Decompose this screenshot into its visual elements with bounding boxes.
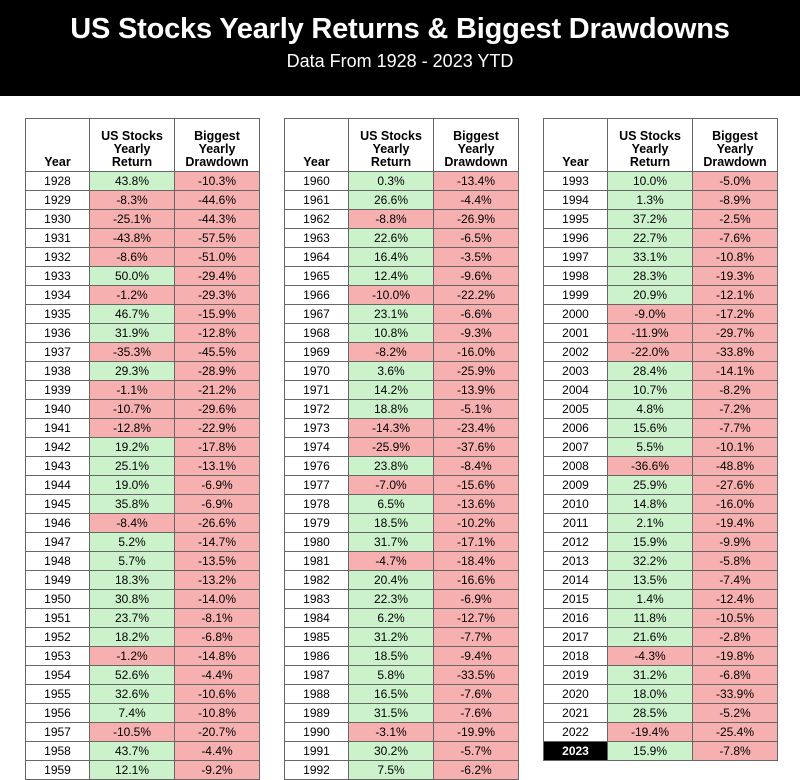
table-row: 195123.7%-8.1% [26, 609, 260, 628]
cell-year: 1998 [544, 267, 608, 286]
table-row: 19567.4%-10.8% [26, 704, 260, 723]
cell-biggest-drawdown: -15.6% [434, 476, 519, 495]
cell-biggest-drawdown: -7.6% [434, 704, 519, 723]
cell-year: 1981 [285, 552, 349, 571]
cell-biggest-drawdown: -19.8% [693, 647, 778, 666]
cell-yearly-return: 18.2% [90, 628, 175, 647]
cell-year: 1987 [285, 666, 349, 685]
cell-yearly-return: -8.4% [90, 514, 175, 533]
cell-biggest-drawdown: -2.5% [693, 210, 778, 229]
cell-yearly-return: 19.0% [90, 476, 175, 495]
cell-year: 2010 [544, 495, 608, 514]
table-row: 2001-11.9%-29.7% [544, 324, 778, 343]
cell-biggest-drawdown: -48.8% [693, 457, 778, 476]
cell-year: 1960 [285, 172, 349, 191]
table-row: 199310.0%-5.0% [544, 172, 778, 191]
cell-year: 1946 [26, 514, 90, 533]
cell-yearly-return: 5.5% [608, 438, 693, 457]
cell-biggest-drawdown: -6.5% [434, 229, 519, 248]
cell-year: 1942 [26, 438, 90, 457]
cell-year: 1989 [285, 704, 349, 723]
cell-year: 1943 [26, 457, 90, 476]
cell-biggest-drawdown: -8.1% [175, 609, 260, 628]
cell-biggest-drawdown: -44.3% [175, 210, 260, 229]
cell-yearly-return: 26.6% [349, 191, 434, 210]
table-row: 199537.2%-2.5% [544, 210, 778, 229]
header-line-1: US Stocks [360, 129, 422, 143]
table-row: 201931.2%-6.8% [544, 666, 778, 685]
table-row: 1932-8.6%-51.0% [26, 248, 260, 267]
cell-year: 2013 [544, 552, 608, 571]
cell-biggest-drawdown: -51.0% [175, 248, 260, 267]
cell-year: 1984 [285, 609, 349, 628]
cell-year: 1970 [285, 362, 349, 381]
table-row: 198816.5%-7.6% [285, 685, 519, 704]
cell-biggest-drawdown: -10.8% [175, 704, 260, 723]
table-row: 193546.7%-15.9% [26, 305, 260, 324]
cell-year: 1995 [544, 210, 608, 229]
cell-biggest-drawdown: -14.7% [175, 533, 260, 552]
header-line-2: Yearly [114, 142, 151, 156]
cell-biggest-drawdown: -12.4% [693, 590, 778, 609]
cell-biggest-drawdown: -4.4% [175, 742, 260, 761]
cell-year: 1967 [285, 305, 349, 324]
table-row: 200328.4%-14.1% [544, 362, 778, 381]
cell-yearly-return: 14.8% [608, 495, 693, 514]
cell-yearly-return: 28.3% [608, 267, 693, 286]
cell-biggest-drawdown: -29.4% [175, 267, 260, 286]
table-row: 201611.8%-10.5% [544, 609, 778, 628]
cell-year: 1953 [26, 647, 90, 666]
cell-year: 2012 [544, 533, 608, 552]
column-header-drawdown: Biggest Yearly Drawdown [693, 119, 778, 172]
cell-year: 1950 [26, 590, 90, 609]
cell-year: 1951 [26, 609, 90, 628]
cell-yearly-return: -12.8% [90, 419, 175, 438]
cell-biggest-drawdown: -7.7% [693, 419, 778, 438]
cell-biggest-drawdown: -9.2% [175, 761, 260, 780]
table-row: 198931.5%-7.6% [285, 704, 519, 723]
cell-yearly-return: 19.2% [90, 438, 175, 457]
cell-yearly-return: -3.1% [349, 723, 434, 742]
cell-biggest-drawdown: -7.6% [434, 685, 519, 704]
cell-yearly-return: 32.6% [90, 685, 175, 704]
cell-yearly-return: 18.5% [349, 514, 434, 533]
cell-year: 1986 [285, 647, 349, 666]
table-row: 193829.3%-28.9% [26, 362, 260, 381]
cell-biggest-drawdown: -8.9% [693, 191, 778, 210]
table-row: 194325.1%-13.1% [26, 457, 260, 476]
cell-year: 1977 [285, 476, 349, 495]
table-row: 195452.6%-4.4% [26, 666, 260, 685]
cell-yearly-return: 31.2% [608, 666, 693, 685]
cell-biggest-drawdown: -44.6% [175, 191, 260, 210]
cell-biggest-drawdown: -5.2% [693, 704, 778, 723]
column-header-drawdown: Biggest Yearly Drawdown [434, 119, 519, 172]
cell-year: 2005 [544, 400, 608, 419]
cell-biggest-drawdown: -18.4% [434, 552, 519, 571]
header-line-3: Drawdown [185, 155, 248, 169]
cell-year: 1999 [544, 286, 608, 305]
table-row: 20054.8%-7.2% [544, 400, 778, 419]
table-row: 1940-10.7%-29.6% [26, 400, 260, 419]
cell-biggest-drawdown: -19.9% [434, 723, 519, 742]
cell-biggest-drawdown: -22.9% [175, 419, 260, 438]
header-line-2: Yearly [199, 142, 236, 156]
cell-biggest-drawdown: -45.5% [175, 343, 260, 362]
cell-biggest-drawdown: -5.7% [434, 742, 519, 761]
table-row: 1937-35.3%-45.5% [26, 343, 260, 362]
table-row: 197918.5%-10.2% [285, 514, 519, 533]
cell-biggest-drawdown: -10.8% [693, 248, 778, 267]
cell-yearly-return: 43.7% [90, 742, 175, 761]
cell-year: 1992 [285, 761, 349, 780]
table-row: 196723.1%-6.6% [285, 305, 519, 324]
cell-year: 1990 [285, 723, 349, 742]
cell-year: 1947 [26, 533, 90, 552]
cell-year: 1983 [285, 590, 349, 609]
table-row: 200925.9%-27.6% [544, 476, 778, 495]
cell-year: 1959 [26, 761, 90, 780]
table-row: 19927.5%-6.2% [285, 761, 519, 780]
cell-year: 1932 [26, 248, 90, 267]
cell-year: 1982 [285, 571, 349, 590]
table-row: 198031.7%-17.1% [285, 533, 519, 552]
cell-yearly-return: 20.9% [608, 286, 693, 305]
cell-biggest-drawdown: -13.5% [175, 552, 260, 571]
cell-yearly-return: 43.8% [90, 172, 175, 191]
cell-year: 1997 [544, 248, 608, 267]
cell-year: 1930 [26, 210, 90, 229]
table-row: 19941.3%-8.9% [544, 191, 778, 210]
cell-biggest-drawdown: -17.1% [434, 533, 519, 552]
cell-year: 2021 [544, 704, 608, 723]
header-line-3: Return [371, 155, 411, 169]
cell-yearly-return: -19.4% [608, 723, 693, 742]
cell-yearly-return: 12.1% [90, 761, 175, 780]
table-row: 1981-4.7%-18.4% [285, 552, 519, 571]
cell-yearly-return: -8.2% [349, 343, 434, 362]
cell-biggest-drawdown: -28.9% [175, 362, 260, 381]
table-row: 20075.5%-10.1% [544, 438, 778, 457]
cell-biggest-drawdown: -9.9% [693, 533, 778, 552]
cell-year: 2011 [544, 514, 608, 533]
table-row: 19875.8%-33.5% [285, 666, 519, 685]
cell-biggest-drawdown: -27.6% [693, 476, 778, 495]
cell-yearly-return: 50.0% [90, 267, 175, 286]
cell-yearly-return: 52.6% [90, 666, 175, 685]
table-row: 201413.5%-7.4% [544, 571, 778, 590]
header-line-2: Yearly [458, 142, 495, 156]
cell-yearly-return: -1.2% [90, 286, 175, 305]
table-row: 1977-7.0%-15.6% [285, 476, 519, 495]
cell-biggest-drawdown: -7.4% [693, 571, 778, 590]
cell-biggest-drawdown: -8.4% [434, 457, 519, 476]
cell-biggest-drawdown: -19.4% [693, 514, 778, 533]
cell-yearly-return: 6.2% [349, 609, 434, 628]
cell-yearly-return: 33.1% [608, 248, 693, 267]
cell-yearly-return: 10.7% [608, 381, 693, 400]
table-row: 2018-4.3%-19.8% [544, 647, 778, 666]
cell-biggest-drawdown: -16.0% [434, 343, 519, 362]
cell-biggest-drawdown: -20.7% [175, 723, 260, 742]
header-line-1: US Stocks [619, 129, 681, 143]
cell-biggest-drawdown: -12.8% [175, 324, 260, 343]
cell-biggest-drawdown: -7.8% [693, 742, 778, 761]
table-row: 1929-8.3%-44.6% [26, 191, 260, 210]
cell-biggest-drawdown: -12.1% [693, 286, 778, 305]
column-header-drawdown: Biggest Yearly Drawdown [175, 119, 260, 172]
cell-yearly-return: 31.2% [349, 628, 434, 647]
cell-year: 1938 [26, 362, 90, 381]
cell-year: 2017 [544, 628, 608, 647]
cell-yearly-return: 6.5% [349, 495, 434, 514]
cell-biggest-drawdown: -16.6% [434, 571, 519, 590]
cell-biggest-drawdown: -4.4% [175, 666, 260, 685]
column-header-year: Year [26, 119, 90, 172]
cell-biggest-drawdown: -26.9% [434, 210, 519, 229]
cell-biggest-drawdown: -5.1% [434, 400, 519, 419]
table-row: 200410.7%-8.2% [544, 381, 778, 400]
cell-yearly-return: -25.1% [90, 210, 175, 229]
table-row: 197114.2%-13.9% [285, 381, 519, 400]
table-row: 1939-1.1%-21.2% [26, 381, 260, 400]
table-row: 192843.8%-10.3% [26, 172, 260, 191]
cell-yearly-return: -11.9% [608, 324, 693, 343]
table-panel-3: Year US Stocks Yearly Return Biggest Yea… [543, 118, 774, 780]
table-row: 1931-43.8%-57.5% [26, 229, 260, 248]
table-row: 202128.5%-5.2% [544, 704, 778, 723]
table-row: 1957-10.5%-20.7% [26, 723, 260, 742]
returns-table: Year US Stocks Yearly Return Biggest Yea… [284, 118, 519, 780]
cell-biggest-drawdown: -6.8% [693, 666, 778, 685]
table-row: 194535.8%-6.9% [26, 495, 260, 514]
cell-biggest-drawdown: -13.4% [434, 172, 519, 191]
cell-year: 1974 [285, 438, 349, 457]
cell-year: 1978 [285, 495, 349, 514]
table-row: 196810.8%-9.3% [285, 324, 519, 343]
cell-biggest-drawdown: -13.6% [434, 495, 519, 514]
cell-biggest-drawdown: -25.9% [434, 362, 519, 381]
cell-biggest-drawdown: -23.4% [434, 419, 519, 438]
cell-yearly-return: 22.3% [349, 590, 434, 609]
cell-yearly-return: 7.4% [90, 704, 175, 723]
cell-biggest-drawdown: -33.5% [434, 666, 519, 685]
table-row: 195912.1%-9.2% [26, 761, 260, 780]
cell-biggest-drawdown: -6.2% [434, 761, 519, 780]
table-row: 20112.1%-19.4% [544, 514, 778, 533]
cell-year: 1965 [285, 267, 349, 286]
table-row: 193631.9%-12.8% [26, 324, 260, 343]
page-title: US Stocks Yearly Returns & Biggest Drawd… [0, 12, 800, 46]
cell-yearly-return: -14.3% [349, 419, 434, 438]
table-row: 1969-8.2%-16.0% [285, 343, 519, 362]
cell-yearly-return: -10.5% [90, 723, 175, 742]
cell-year: 2006 [544, 419, 608, 438]
cell-year: 1962 [285, 210, 349, 229]
table-row: 198220.4%-16.6% [285, 571, 519, 590]
table-row: 19786.5%-13.6% [285, 495, 519, 514]
cell-year: 1996 [544, 229, 608, 248]
cell-yearly-return: -25.9% [349, 438, 434, 457]
cell-year: 2016 [544, 609, 608, 628]
cell-yearly-return: -36.6% [608, 457, 693, 476]
cell-biggest-drawdown: -7.6% [693, 229, 778, 248]
cell-biggest-drawdown: -14.0% [175, 590, 260, 609]
cell-year: 1941 [26, 419, 90, 438]
cell-yearly-return: 28.5% [608, 704, 693, 723]
cell-year: 1971 [285, 381, 349, 400]
table-row: 196416.4%-3.5% [285, 248, 519, 267]
header-row: Year US Stocks Yearly Return Biggest Yea… [26, 119, 260, 172]
cell-biggest-drawdown: -17.2% [693, 305, 778, 324]
cell-yearly-return: 29.3% [90, 362, 175, 381]
cell-yearly-return: 21.6% [608, 628, 693, 647]
cell-year: 1939 [26, 381, 90, 400]
header-line-1: Biggest [194, 129, 240, 143]
cell-yearly-return: 32.2% [608, 552, 693, 571]
table-row: 1966-10.0%-22.2% [285, 286, 519, 305]
header-line-2: Yearly [373, 142, 410, 156]
cell-biggest-drawdown: -4.4% [434, 191, 519, 210]
table-row: 195030.8%-14.0% [26, 590, 260, 609]
cell-year: 1929 [26, 191, 90, 210]
cell-biggest-drawdown: -19.3% [693, 267, 778, 286]
cell-yearly-return: 31.5% [349, 704, 434, 723]
cell-year: 1928 [26, 172, 90, 191]
cell-year: 1948 [26, 552, 90, 571]
cell-biggest-drawdown: -5.0% [693, 172, 778, 191]
cell-yearly-return: 1.4% [608, 590, 693, 609]
table-row: 1990-3.1%-19.9% [285, 723, 519, 742]
column-header-return: US Stocks Yearly Return [608, 119, 693, 172]
cell-year: 2015 [544, 590, 608, 609]
cell-yearly-return: 23.1% [349, 305, 434, 324]
cell-biggest-drawdown: -22.2% [434, 286, 519, 305]
table-header: Year US Stocks Yearly Return Biggest Yea… [285, 119, 519, 172]
table-row: 1946-8.4%-26.6% [26, 514, 260, 533]
cell-yearly-return: 18.5% [349, 647, 434, 666]
table-body: 199310.0%-5.0%19941.3%-8.9%199537.2%-2.5… [544, 172, 778, 761]
cell-biggest-drawdown: -14.8% [175, 647, 260, 666]
table-row: 2008-36.6%-48.8% [544, 457, 778, 476]
cell-year: 1954 [26, 666, 90, 685]
cell-year: 1936 [26, 324, 90, 343]
cell-year: 1972 [285, 400, 349, 419]
cell-yearly-return: 22.7% [608, 229, 693, 248]
cell-biggest-drawdown: -13.9% [434, 381, 519, 400]
table-row: 1973-14.3%-23.4% [285, 419, 519, 438]
cell-year: 2004 [544, 381, 608, 400]
cell-yearly-return: 2.1% [608, 514, 693, 533]
header-line-3: Return [112, 155, 152, 169]
cell-year: 1976 [285, 457, 349, 476]
cell-biggest-drawdown: -6.9% [175, 476, 260, 495]
table-row: 200615.6%-7.7% [544, 419, 778, 438]
cell-yearly-return: 20.4% [349, 571, 434, 590]
cell-biggest-drawdown: -6.9% [434, 590, 519, 609]
cell-year: 2000 [544, 305, 608, 324]
table-row: 1941-12.8%-22.9% [26, 419, 260, 438]
cell-biggest-drawdown: -21.2% [175, 381, 260, 400]
table-row: 1953-1.2%-14.8% [26, 647, 260, 666]
page-subtitle: Data From 1928 - 2023 YTD [0, 49, 800, 73]
table-row: 19475.2%-14.7% [26, 533, 260, 552]
cell-biggest-drawdown: -26.6% [175, 514, 260, 533]
cell-biggest-drawdown: -10.3% [175, 172, 260, 191]
cell-year: 2008 [544, 457, 608, 476]
table-row: 202315.9%-7.8% [544, 742, 778, 761]
cell-year: 1964 [285, 248, 349, 267]
cell-year: 2002 [544, 343, 608, 362]
table-panel-1: Year US Stocks Yearly Return Biggest Yea… [25, 118, 256, 780]
cell-biggest-drawdown: -5.8% [693, 552, 778, 571]
header-line-1: Biggest [712, 129, 758, 143]
cell-year: 1958 [26, 742, 90, 761]
header-row: Year US Stocks Yearly Return Biggest Yea… [544, 119, 778, 172]
cell-year: 1957 [26, 723, 90, 742]
cell-yearly-return: -4.3% [608, 647, 693, 666]
column-header-return: US Stocks Yearly Return [349, 119, 434, 172]
cell-biggest-drawdown: -14.1% [693, 362, 778, 381]
table-row: 199920.9%-12.1% [544, 286, 778, 305]
cell-biggest-drawdown: -57.5% [175, 229, 260, 248]
table-row: 194419.0%-6.9% [26, 476, 260, 495]
cell-biggest-drawdown: -37.6% [434, 438, 519, 457]
cell-year: 1969 [285, 343, 349, 362]
cell-year: 1945 [26, 495, 90, 514]
cell-biggest-drawdown: -16.0% [693, 495, 778, 514]
cell-biggest-drawdown: -2.8% [693, 628, 778, 647]
table-header: Year US Stocks Yearly Return Biggest Yea… [26, 119, 260, 172]
cell-year: 1940 [26, 400, 90, 419]
column-header-return: US Stocks Yearly Return [90, 119, 175, 172]
table-row: 1934-1.2%-29.3% [26, 286, 260, 305]
cell-yearly-return: 30.2% [349, 742, 434, 761]
table-row: 195218.2%-6.8% [26, 628, 260, 647]
cell-yearly-return: 5.7% [90, 552, 175, 571]
cell-yearly-return: -4.7% [349, 552, 434, 571]
table-row: 199733.1%-10.8% [544, 248, 778, 267]
cell-yearly-return: 12.4% [349, 267, 434, 286]
cell-yearly-return: 11.8% [608, 609, 693, 628]
cell-year: 2019 [544, 666, 608, 685]
cell-yearly-return: 5.2% [90, 533, 175, 552]
column-header-year: Year [285, 119, 349, 172]
title-banner: US Stocks Yearly Returns & Biggest Drawd… [0, 0, 800, 96]
header-line-2: Yearly [632, 142, 669, 156]
cell-year: 2007 [544, 438, 608, 457]
cell-year: 1994 [544, 191, 608, 210]
cell-yearly-return: 18.0% [608, 685, 693, 704]
column-header-year: Year [544, 119, 608, 172]
table-row: 198322.3%-6.9% [285, 590, 519, 609]
table-row: 195532.6%-10.6% [26, 685, 260, 704]
cell-yearly-return: -10.7% [90, 400, 175, 419]
cell-yearly-return: 3.6% [349, 362, 434, 381]
cell-yearly-return: 31.7% [349, 533, 434, 552]
cell-yearly-return: 18.3% [90, 571, 175, 590]
cell-year: 1973 [285, 419, 349, 438]
cell-year: 1968 [285, 324, 349, 343]
cell-yearly-return: -7.0% [349, 476, 434, 495]
cell-biggest-drawdown: -13.2% [175, 571, 260, 590]
table-row: 198618.5%-9.4% [285, 647, 519, 666]
table-row: 2000-9.0%-17.2% [544, 305, 778, 324]
cell-yearly-return: 10.8% [349, 324, 434, 343]
table-row: 19600.3%-13.4% [285, 172, 519, 191]
table-row: 1974-25.9%-37.6% [285, 438, 519, 457]
